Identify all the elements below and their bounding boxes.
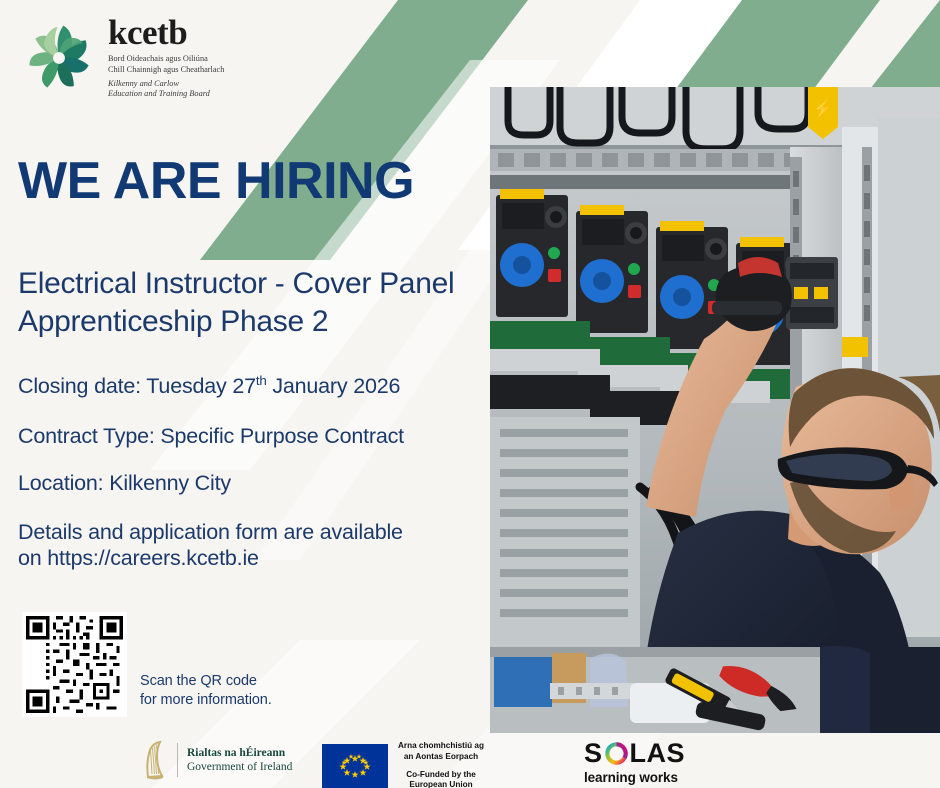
kcetb-swirl-icon [22,21,96,95]
footer-logos: Rialtas na hÉireann Government of Irelan… [0,736,940,788]
eu-funding-text: Arna chomhchistiú ag an Aontas Eorpach C… [398,741,484,788]
solas-letter-s: S [584,740,603,767]
qr-caption-line-1: Scan the QR code [140,672,272,691]
solas-logo: S [584,740,685,785]
eu-english-line-2: European Union [398,780,484,788]
eu-english-line-1: Co-Funded by the [398,770,484,781]
eu-irish-line-1: Arna chomhchistiú ag [398,741,484,752]
solas-rainbow-o-icon [604,741,629,766]
recruitment-poster: ⚡ [0,0,940,788]
kcetb-logo: kcetb Bord Oideachais agus Oiliúna Chill… [22,16,224,100]
application-line-1: Details and application form are availab… [18,519,498,545]
closing-date-rest: January 2026 [267,374,401,398]
qr-caption: Scan the QR code for more information. [140,672,272,710]
eu-irish-line-2: an Aontas Eorpach [398,752,484,763]
solas-letters-las: LAS [630,740,686,767]
kcetb-wordmark: kcetb [108,16,224,50]
application-info: Details and application form are availab… [18,519,498,571]
qr-code[interactable] [22,612,127,717]
closing-date: Closing date: Tuesday 27th January 2026 [18,373,400,399]
svg-text:⚡: ⚡ [812,98,834,120]
page-title: WE ARE HIRING [18,155,414,207]
eu-flag-icon [322,744,388,788]
kcetb-english-name: Kilkenny and Carlow Education and Traini… [108,79,224,100]
irish-harp-icon [142,740,168,780]
gov-english-name: Government of Ireland [187,760,292,774]
solas-tagline: learning works [584,770,685,785]
eu-cofunding-logo: Arna chomhchistiú ag an Aontas Eorpach C… [322,741,484,788]
contract-type: Contract Type: Specific Purpose Contract [18,423,404,449]
government-of-ireland-logo: Rialtas na hÉireann Government of Irelan… [142,740,292,780]
solas-wordmark: S [584,740,685,767]
kcetb-irish-name: Bord Oideachais agus Oiliúna Chill Chain… [108,54,224,75]
gov-irish-name: Rialtas na hÉireann [187,746,292,760]
logo-divider [177,743,178,777]
job-title: Electrical Instructor - Cover Panel Appr… [18,265,498,342]
application-line-2: on https://careers.kcetb.ie [18,545,498,571]
closing-date-label: Closing date: [18,374,141,398]
qr-caption-line-2: for more information. [140,691,272,710]
closing-date-ordinal: th [256,373,267,388]
location: Location: Kilkenny City [18,470,231,496]
job-photo: ⚡ [490,87,940,733]
closing-date-day: Tuesday 27 [146,374,256,398]
